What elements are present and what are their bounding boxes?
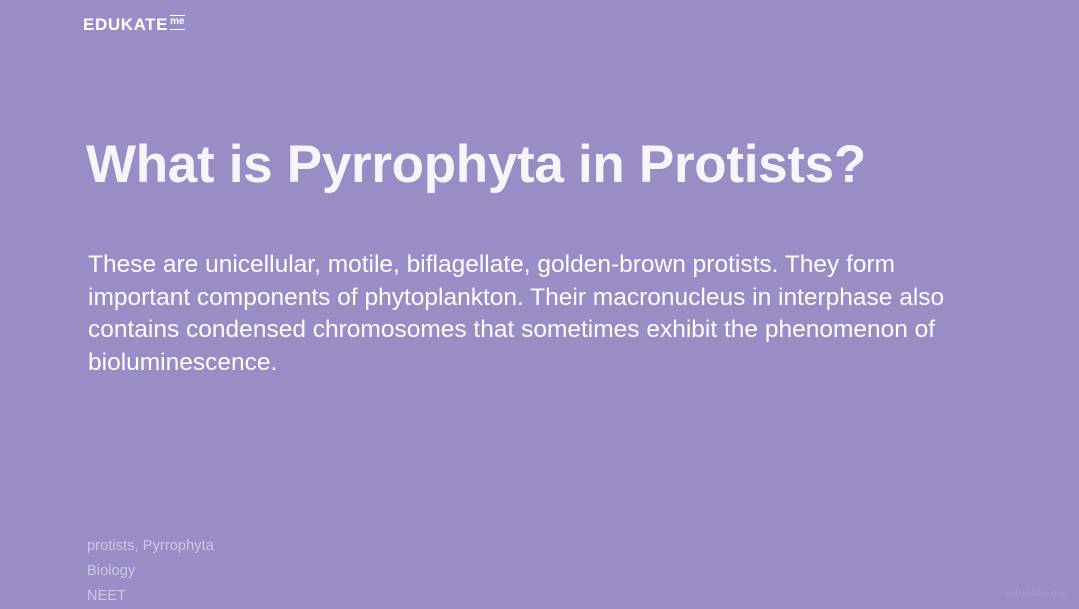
meta-subject: Biology [87,559,214,584]
meta-exam: NEET [87,584,214,609]
brand-suffix: me [170,15,184,30]
brand-logo[interactable]: EDUKATE me [83,16,185,33]
meta-tags: protists, Pyrrophyta [87,534,214,559]
corner-watermark: edukate.me [1006,587,1067,599]
slide-title: What is Pyrrophyta in Protists? [86,136,986,193]
slide-body-text: These are unicellular, motile, biflagell… [88,249,966,379]
slide-canvas: EDUKATE me What is Pyrrophyta in Protist… [0,0,1079,607]
slide-meta: protists, Pyrrophyta Biology NEET [87,534,214,609]
brand-name: EDUKATE [83,16,168,33]
